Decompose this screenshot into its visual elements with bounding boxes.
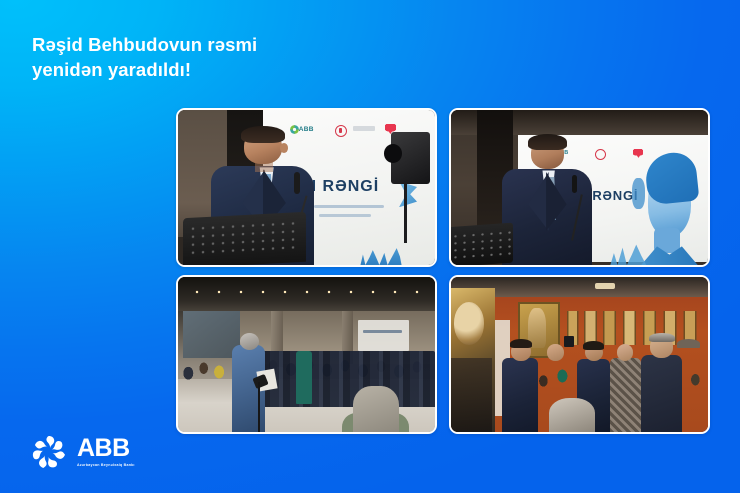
p4-smartphone-icon — [564, 336, 574, 347]
p1-abb-logo-icon — [290, 125, 299, 134]
p4-artwork-shadow — [451, 358, 492, 432]
p4-visitor-patterned-outfit — [610, 358, 641, 432]
p4-ceiling-light-icon — [595, 283, 616, 288]
p1-microphone-icon — [294, 172, 300, 194]
p3-foreground-guest-head — [353, 386, 399, 433]
p2-music-stand-perforations — [451, 229, 513, 261]
p1-camera-lens-icon — [384, 144, 402, 163]
abb-tagline: Azərbaycan Beynəlxalq Bankı — [77, 464, 135, 468]
photo-card-top-left[interactable]: ABB I RƏNGİ — [176, 108, 437, 267]
photo-top-right: ABB RƏNGİ — [451, 110, 708, 265]
photo-card-bottom-right[interactable] — [449, 275, 710, 434]
p1-abb-logo-text: ABB — [299, 126, 314, 133]
p2-heart-icon — [633, 149, 643, 158]
photo-grid: ABB I RƏNGİ — [176, 108, 710, 434]
photo-card-top-right[interactable]: ABB RƏNGİ — [449, 108, 710, 267]
p2-portrait-side — [632, 178, 645, 209]
p3-guest-green-dress — [296, 351, 311, 404]
p1-partner-logo-icon — [335, 125, 347, 137]
p1-backdrop-word: I RƏNGİ — [312, 178, 380, 196]
p3-front-row-guests — [250, 351, 435, 407]
abb-pinwheel-icon — [30, 433, 68, 471]
p4-flat-cap — [677, 339, 700, 348]
p4-visitor-hair-a — [510, 339, 532, 348]
p3-microphone-stand — [258, 382, 260, 432]
poster-canvas: Rəşid Behbudovun rəsmi yenidən yaradıldı… — [0, 0, 740, 493]
p1-backdrop-subtext-1 — [314, 205, 384, 208]
photo-bottom-left — [178, 277, 435, 432]
abb-logo-text: ABB Azərbaycan Beynəlxalq Bankı — [77, 436, 135, 467]
p4-artwork-face — [454, 302, 485, 345]
p4-visitor-head-patterned — [617, 344, 634, 361]
p4-visitor-suit-a — [502, 358, 538, 432]
p2-microphone-icon — [572, 175, 577, 193]
photo-card-bottom-left[interactable] — [176, 275, 437, 434]
p4-elder-visitor-hair — [649, 333, 675, 342]
page-title: Rəşid Behbudovun rəsmi yenidən yaradıldı… — [32, 33, 362, 82]
p1-speaker-hair — [241, 126, 285, 143]
p3-speaker-head — [240, 333, 259, 350]
p3-track-lights-icon — [186, 288, 422, 296]
p2-speaker-hair — [528, 134, 567, 150]
p1-music-stand-perforations — [188, 219, 301, 259]
p1-camera-tripod — [404, 181, 407, 243]
photo-bottom-right — [451, 277, 708, 432]
p1-backdrop-subtext-2 — [319, 214, 371, 217]
p3-banner-text — [363, 330, 402, 333]
p2-partner-logo-icon — [595, 149, 606, 160]
abb-logo: ABB Azərbaycan Beynəlxalq Bankı — [30, 433, 135, 471]
p4-foreground-visitor-head — [549, 398, 595, 432]
photo-top-left: ABB I RƏNGİ — [178, 110, 435, 265]
p1-partner-logo-bar — [353, 126, 375, 131]
p4-visitor-hair-b — [583, 341, 604, 350]
abb-wordmark: ABB — [77, 436, 135, 461]
p4-visitor-head-green — [547, 344, 564, 361]
p4-elder-visitor-body — [641, 355, 682, 433]
